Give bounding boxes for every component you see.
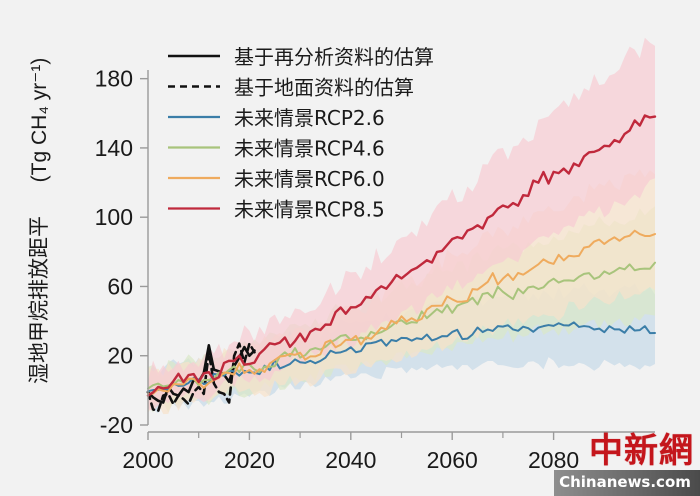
legend-label: 基于再分析资料的估算 <box>234 45 434 69</box>
watermark: 中新網 Chinanews.com <box>554 426 700 496</box>
y-tick-label: 180 <box>95 66 133 92</box>
legend-label: 基于地面资料的估算 <box>234 76 414 100</box>
x-tick-label: 2040 <box>325 447 376 473</box>
y-tick-label: 140 <box>95 135 133 161</box>
y-tick-label: 100 <box>95 204 133 230</box>
y-axis-title-unit: (Tg CH₄ yr⁻¹) <box>28 58 51 183</box>
y-tick-label: 20 <box>107 343 133 369</box>
watermark-logo: 中新網 <box>589 434 694 468</box>
legend-label: 未来情景RCP6.0 <box>234 167 385 191</box>
legend-label: 未来情景RCP2.6 <box>234 106 385 130</box>
y-axis-title: 湿地甲烷排放距平 (Tg CH₄ yr⁻¹) <box>28 58 51 384</box>
x-tick-label: 2060 <box>427 447 478 473</box>
y-tick-label: 60 <box>107 273 133 299</box>
y-tick-label: -20 <box>100 412 133 438</box>
watermark-site-text: Chinanews.com <box>554 473 696 491</box>
x-tick-label: 2000 <box>122 447 173 473</box>
x-tick-label: 2020 <box>224 447 275 473</box>
y-axis-title-main: 湿地甲烷排放距平 <box>28 216 51 384</box>
legend-label: 未来情景RCP8.5 <box>234 198 385 222</box>
wetland-methane-emission-chart: -202060100140180 20002020204020602080 湿地… <box>0 0 700 496</box>
legend-label: 未来情景RCP4.6 <box>234 137 385 161</box>
watermark-bar: Chinanews.com <box>554 470 700 496</box>
